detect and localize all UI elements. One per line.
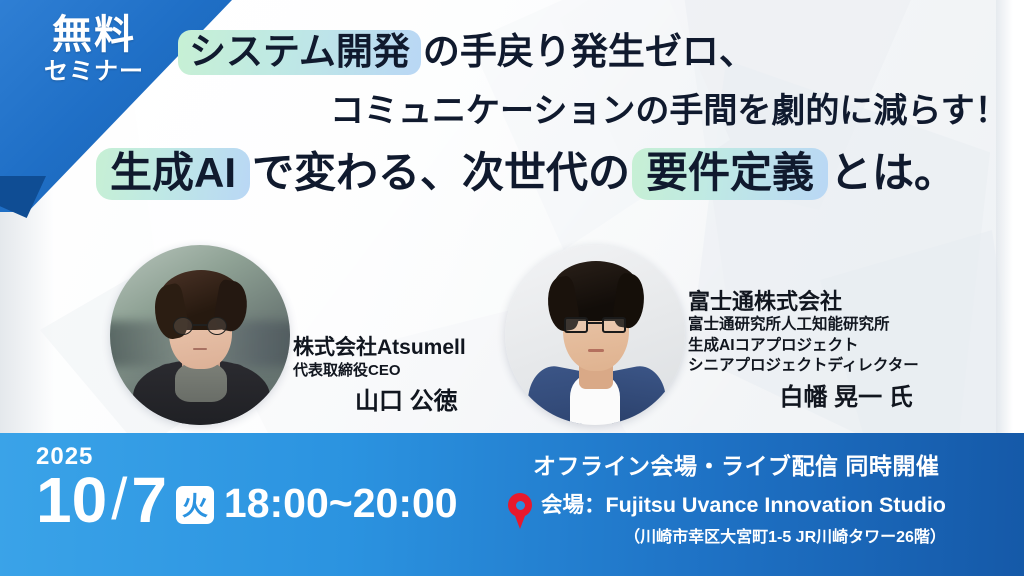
date-separator: / bbox=[111, 471, 127, 529]
speaker-photo-left bbox=[110, 245, 290, 425]
speaker-right-role-line-2: 生成AIコアプロジェクト bbox=[688, 336, 919, 357]
headline-line-3: 生成AIで変わる、次世代の要件定義とは。 bbox=[96, 148, 1024, 200]
event-format-title: オフライン会場・ライブ配信 同時開催 bbox=[533, 447, 1003, 481]
speaker-right-name: 白幡 晃一 氏 bbox=[688, 384, 919, 413]
event-month: 10 bbox=[36, 470, 107, 531]
speaker-right-role-line-1: 富士通研究所人工知能研究所 bbox=[688, 315, 919, 336]
headline: システム開発の手戻り発生ゼロ、 コミュニケーションの手間を劇的に減らす！ 生成A… bbox=[0, 30, 1024, 200]
venue-address: （川崎市幸区大宮町1-5 JR川崎タワー26階） bbox=[541, 523, 946, 547]
headline-line-3-tail: とは。 bbox=[828, 149, 958, 196]
venue-texts: 会場：Fujitsu Uvance Innovation Studio （川崎市… bbox=[541, 493, 946, 547]
speaker-left-role: 代表取締役CEO bbox=[293, 361, 466, 381]
headline-line-1-rest: の手戻り発生ゼロ、 bbox=[421, 31, 758, 72]
speaker-info-left: 株式会社Atsumell 代表取締役CEO 山口 公徳 bbox=[293, 336, 466, 417]
event-day-of-week-badge: 火 bbox=[176, 486, 214, 524]
headline-highlight-generative-ai: 生成AI bbox=[96, 148, 250, 200]
headline-line-2: コミュニケーションの手間を劇的に減らす！ bbox=[330, 94, 1024, 128]
event-date-block: 2025 10 / 7 火 18:00~20:00 bbox=[36, 445, 458, 531]
map-pin-icon bbox=[505, 491, 535, 531]
portrait-mouth bbox=[193, 348, 207, 350]
speaker-right-organization: 富士通株式会社 bbox=[688, 289, 919, 315]
portrait-glasses-left-lens bbox=[173, 317, 193, 335]
portrait-glasses-right-lens bbox=[207, 317, 227, 335]
event-day: 7 bbox=[131, 470, 167, 531]
seminar-poster: 無料 セミナー システム開発の手戻り発生ゼロ、 コミュニケーションの手間を劇的に… bbox=[0, 0, 1024, 576]
venue-name: 会場：Fujitsu Uvance Innovation Studio bbox=[541, 493, 946, 518]
portrait-mouth bbox=[588, 349, 604, 352]
speaker-left-name: 山口 公徳 bbox=[293, 388, 466, 417]
portrait-glasses-bridge bbox=[588, 322, 602, 324]
portrait-glasses-right-lens bbox=[602, 317, 625, 333]
event-venue-block: オフライン会場・ライブ配信 同時開催 会場：Fujitsu Uvance Inn… bbox=[533, 447, 1003, 547]
headline-line-1: システム開発の手戻り発生ゼロ、 bbox=[178, 30, 1024, 75]
speaker-left-organization: 株式会社Atsumell bbox=[293, 336, 466, 361]
portrait-glasses-bridge bbox=[193, 324, 207, 326]
headline-highlight-system-development: システム開発 bbox=[178, 30, 421, 75]
headline-line-3-mid: で変わる、次世代の bbox=[250, 149, 632, 196]
portrait-glasses-left-lens bbox=[564, 317, 587, 333]
map-pin-hole bbox=[516, 501, 525, 510]
speaker-photo-right bbox=[505, 245, 685, 425]
venue-row: 会場：Fujitsu Uvance Innovation Studio （川崎市… bbox=[533, 493, 1003, 547]
speaker-info-right: 富士通株式会社 富士通研究所人工知能研究所 生成AIコアプロジェクト シニアプロ… bbox=[688, 289, 919, 413]
headline-highlight-requirements-definition: 要件定義 bbox=[632, 148, 828, 200]
speaker-right-role-line-3: シニアプロジェクトディレクター bbox=[688, 356, 919, 377]
event-date-line: 10 / 7 火 18:00~20:00 bbox=[36, 470, 458, 531]
event-time: 18:00~20:00 bbox=[224, 483, 458, 524]
event-info-bar: 2025 10 / 7 火 18:00~20:00 オフライン会場・ライブ配信 … bbox=[0, 433, 1024, 576]
